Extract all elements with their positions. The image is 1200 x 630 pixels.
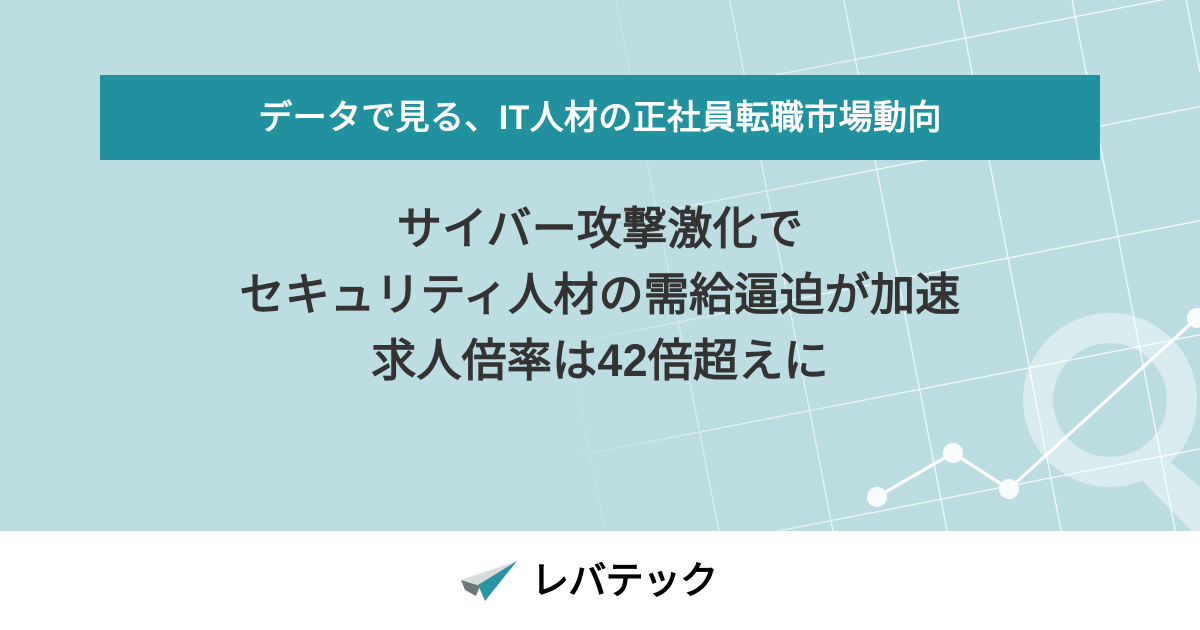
eyebrow-banner: データで見る、IT人材の正社員転職市場動向 — [100, 75, 1100, 160]
levtech-wordmark: レバテック — [531, 561, 742, 601]
eyebrow-banner-text: データで見る、IT人材の正社員転職市場動向 — [258, 101, 941, 135]
levtech-wordmark-text: レバテック — [531, 561, 717, 601]
levtech-logo: レバテック — [459, 558, 742, 604]
ogp-card: データで見る、IT人材の正社員転職市場動向 サイバー攻撃激化で セキュリティ人材… — [0, 0, 1200, 630]
page-title: サイバー攻撃激化で セキュリティ人材の需給逼迫が加速 求人倍率は42倍超えに — [0, 196, 1200, 394]
footer-bar: レバテック — [0, 531, 1200, 630]
paper-plane-mark-icon — [459, 560, 521, 602]
headline-line-3: 求人倍率は42倍超えに — [0, 328, 1200, 394]
headline-line-1: サイバー攻撃激化で — [0, 196, 1200, 262]
headline-line-2: セキュリティ人材の需給逼迫が加速 — [0, 262, 1200, 328]
